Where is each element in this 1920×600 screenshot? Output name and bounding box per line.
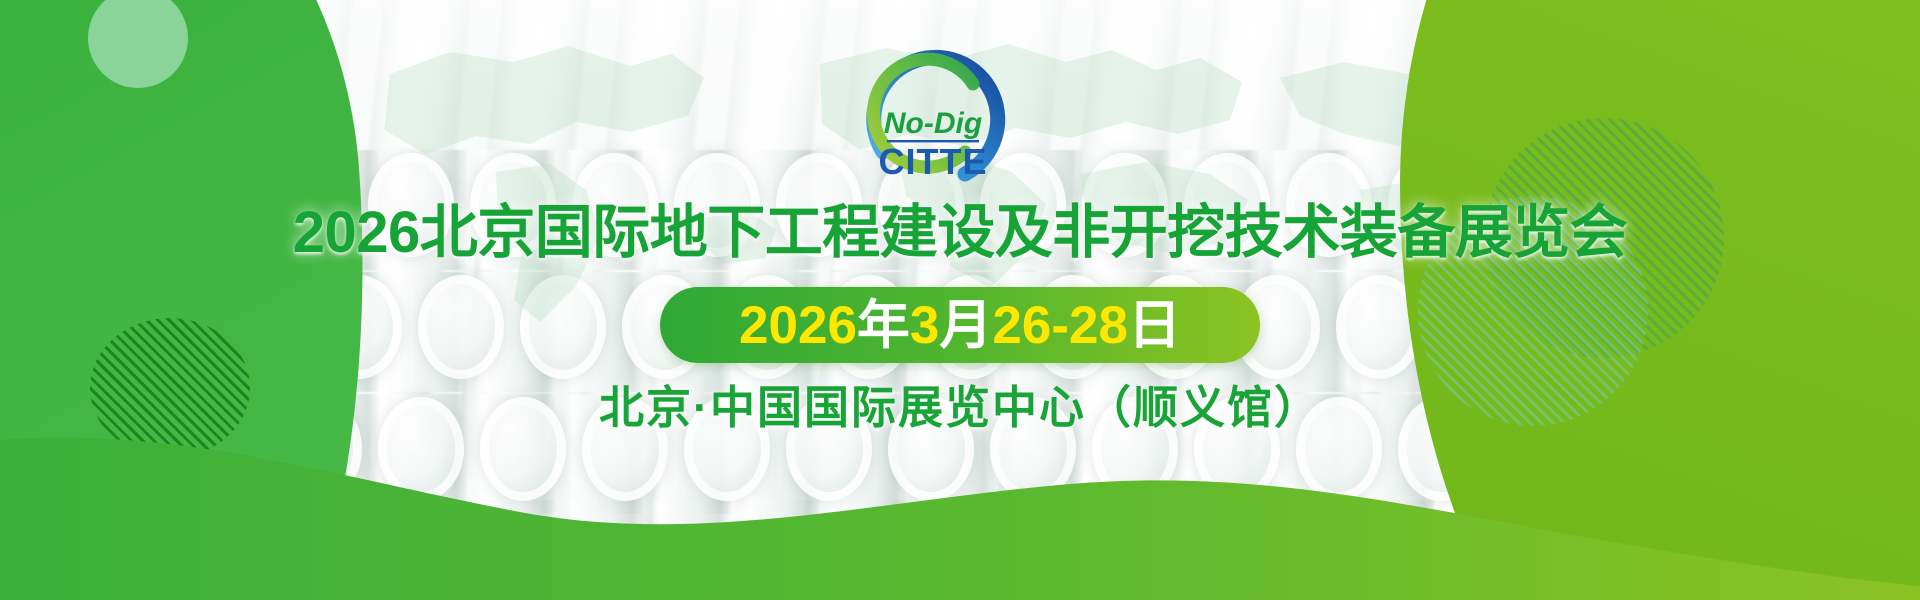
venue-text: 北京·中国国际展览中心（顺义馆） <box>0 371 1920 436</box>
date-day-unit: 日 <box>1128 296 1181 355</box>
date-year-unit: 年 <box>857 296 910 355</box>
svg-text:No-Dig: No-Dig <box>884 107 982 140</box>
date-month-unit: 月 <box>939 296 992 355</box>
exhibition-banner: No-Dig CITTE 2026北京国际地下工程建设及非开挖技术装备展览会 2… <box>0 0 1920 600</box>
svg-text:CITTE: CITTE <box>879 141 988 182</box>
event-date-text: 2026年3月26-28日 <box>739 299 1181 352</box>
date-year: 2026 <box>739 296 857 355</box>
no-dig-citte-logo: No-Dig CITTE <box>849 32 1013 194</box>
date-month: 3 <box>910 296 939 355</box>
event-date-badge: 2026年3月26-28日 <box>660 287 1260 363</box>
date-days: 26-28 <box>992 296 1128 355</box>
page-title: 2026北京国际地下工程建设及非开挖技术装备展览会 <box>0 202 1920 265</box>
